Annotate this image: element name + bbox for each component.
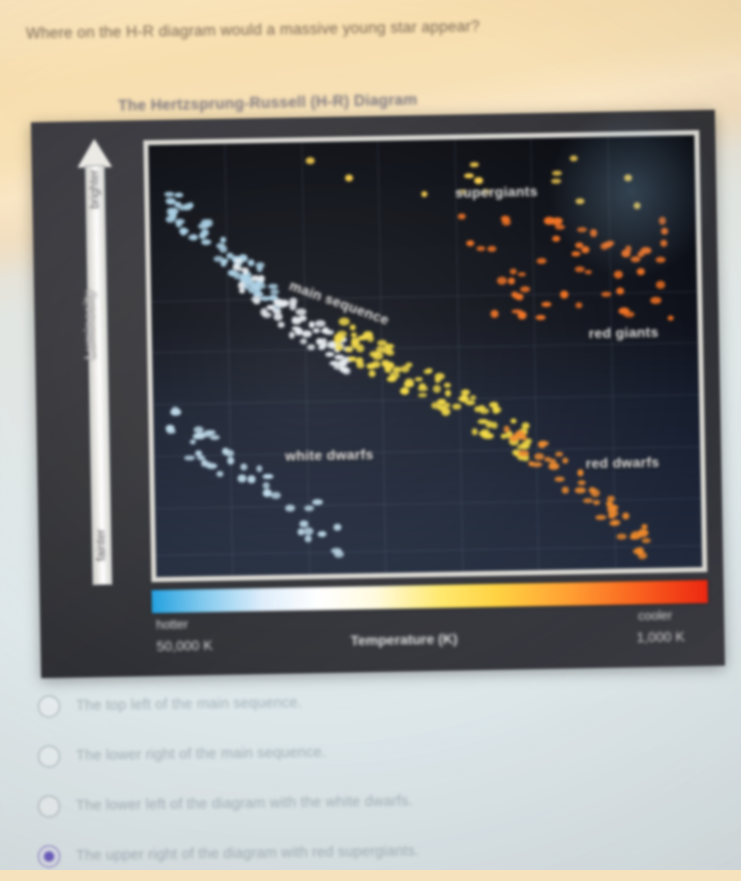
star-point [596, 515, 607, 521]
x-axis-left-value: 50,000 K [156, 637, 212, 654]
star-point [418, 393, 427, 398]
scatter-plot-area: supergiants main sequence red giants whi… [148, 135, 702, 577]
star-point [271, 492, 281, 500]
star-point [585, 270, 592, 275]
star-point [384, 343, 394, 349]
star-point [444, 403, 450, 408]
label-red-giants: red giants [589, 324, 659, 341]
star-point [351, 341, 359, 349]
star-point [520, 286, 530, 293]
star-point [188, 235, 198, 241]
star-point [508, 278, 515, 285]
star-point [668, 315, 674, 320]
star-point [256, 465, 262, 472]
star-point [216, 471, 223, 478]
gridline-vertical [531, 138, 540, 570]
answer-options-list: The top left of the main sequence. The l… [0, 678, 741, 870]
star-point [637, 251, 644, 257]
star-point [574, 267, 584, 273]
star-point [384, 366, 391, 373]
star-point [292, 318, 302, 324]
star-point [623, 311, 634, 318]
star-point [471, 428, 477, 435]
star-point [531, 462, 542, 467]
star-point [575, 488, 586, 494]
star-point [577, 227, 587, 232]
star-point [583, 498, 593, 503]
star-point [342, 367, 351, 375]
gridline-horizontal [155, 498, 701, 509]
quiz-page: Where on the H-R diagram would a massive… [0, 0, 741, 870]
star-point [636, 547, 644, 554]
star-point [417, 386, 428, 391]
star-point [251, 275, 260, 281]
answer-option-3-label: The lower left of the diagram with the w… [76, 793, 413, 814]
star-point [650, 297, 661, 304]
star-point [210, 435, 219, 440]
star-point [339, 317, 350, 325]
star-point [572, 251, 580, 257]
star-point [386, 350, 394, 356]
star-point [658, 217, 666, 225]
star-point [180, 227, 186, 235]
star-point [216, 242, 225, 249]
star-point [240, 464, 247, 471]
star-point [460, 395, 468, 403]
star-point [554, 476, 564, 481]
star-point [174, 201, 181, 207]
star-point [335, 354, 344, 359]
answer-option-2-label: The lower right of the main sequence. [76, 745, 326, 764]
question-text: Where on the H-R diagram would a massive… [26, 15, 716, 44]
star-point [312, 499, 323, 505]
gridline-vertical [225, 144, 234, 576]
star-point [518, 272, 526, 277]
star-point [185, 456, 195, 461]
star-point [239, 288, 245, 293]
star-point [491, 310, 499, 318]
star-point [401, 387, 409, 394]
star-point [295, 309, 306, 316]
star-point [304, 535, 312, 541]
star-point [201, 229, 208, 236]
answer-option-1-label: The top left of the main sequence. [76, 695, 302, 714]
x-axis-right-value: 1,000 K [636, 628, 685, 645]
star-point [306, 157, 315, 164]
star-point [457, 213, 466, 219]
star-point [517, 434, 526, 439]
radio-button-4[interactable] [38, 845, 60, 867]
star-point [510, 419, 516, 424]
hr-diagram-figure: brighter fainter Luminosity [31, 110, 725, 678]
star-point [317, 531, 327, 538]
star-point [262, 482, 269, 489]
star-point [304, 505, 314, 511]
star-points-layer [148, 135, 694, 145]
star-point [642, 538, 651, 543]
star-point [661, 228, 669, 235]
star-point [552, 217, 562, 225]
star-point [303, 527, 313, 535]
star-point [367, 363, 376, 370]
star-point [542, 302, 552, 307]
star-point [248, 286, 256, 292]
star-point [166, 424, 174, 431]
star-point [538, 441, 546, 449]
gridline-horizontal [152, 342, 698, 353]
star-point [315, 320, 326, 327]
star-point [590, 229, 597, 237]
star-point [606, 241, 614, 246]
star-point [461, 389, 470, 395]
radio-button-2[interactable] [38, 745, 60, 767]
y-axis-title: Luminosity [80, 265, 97, 385]
star-point [278, 322, 285, 328]
star-point [237, 474, 246, 482]
radio-button-1[interactable] [38, 695, 60, 717]
star-point [582, 246, 590, 252]
star-point [488, 246, 497, 252]
star-point [247, 259, 255, 267]
star-point [368, 370, 376, 378]
star-point [548, 463, 559, 471]
star-point [452, 404, 460, 410]
star-point [560, 291, 569, 299]
star-point [616, 287, 625, 295]
star-point [268, 284, 278, 289]
label-white-dwarfs: white dwarfs [285, 446, 374, 464]
star-point [608, 510, 618, 517]
star-point [256, 283, 266, 289]
star-point [617, 534, 627, 539]
label-supergiants: supergiants [455, 183, 538, 201]
answer-option-3[interactable]: The lower left of the diagram with the w… [0, 773, 741, 831]
star-point [273, 308, 282, 314]
star-point [575, 198, 585, 204]
gridline-vertical [454, 140, 463, 572]
star-point [555, 225, 565, 230]
star-point [166, 216, 175, 223]
star-point [661, 240, 668, 247]
star-point [290, 298, 298, 306]
star-point [300, 520, 309, 528]
star-point [189, 439, 195, 444]
star-point [174, 192, 184, 198]
star-point [445, 390, 451, 397]
star-point [169, 208, 179, 215]
star-point [562, 487, 569, 493]
star-point [500, 434, 507, 439]
star-point [393, 366, 402, 373]
answer-option-4-label: The upper right of the diagram with red … [76, 843, 419, 864]
star-point [227, 457, 234, 465]
star-point [206, 219, 213, 227]
star-point [213, 255, 223, 262]
star-point [497, 277, 507, 285]
x-axis-title: Temperature (K) [350, 631, 457, 649]
star-point [322, 327, 328, 334]
star-point [575, 302, 582, 308]
star-point [388, 376, 398, 382]
star-point [466, 240, 474, 247]
star-point [164, 192, 174, 197]
star-point [273, 313, 283, 321]
star-point [175, 218, 185, 224]
star-point [415, 377, 423, 382]
star-point [355, 357, 363, 365]
star-point [577, 469, 583, 475]
star-point [614, 271, 623, 279]
star-point [634, 202, 641, 209]
star-point [423, 369, 431, 375]
star-point [248, 476, 255, 483]
answer-option-2[interactable]: The lower right of the main sequence. [0, 723, 741, 781]
star-point [478, 431, 488, 436]
gridline-horizontal [151, 291, 697, 302]
star-point [201, 239, 211, 245]
star-point [577, 480, 585, 485]
star-point [655, 257, 665, 263]
star-point [534, 453, 544, 460]
star-point [552, 236, 560, 242]
star-point [593, 500, 600, 505]
x-axis-right-word: cooler [638, 609, 672, 624]
star-point [326, 352, 335, 357]
star-point [331, 547, 342, 553]
star-point [552, 170, 562, 176]
star-point [401, 365, 410, 373]
y-axis-bottom-label: fainter [95, 512, 108, 578]
x-axis-left-word: hotter [156, 618, 188, 633]
star-point [263, 474, 273, 479]
star-point [536, 315, 546, 321]
star-point [350, 325, 356, 331]
star-point [313, 328, 320, 334]
star-point [625, 246, 631, 253]
answer-option-4[interactable]: The upper right of the diagram with red … [0, 823, 741, 881]
star-point [570, 155, 578, 161]
star-point [629, 535, 638, 540]
plot-frame: supergiants main sequence red giants whi… [143, 130, 707, 582]
star-point [655, 281, 665, 288]
star-point [470, 395, 476, 401]
star-point [297, 528, 304, 536]
star-point [203, 430, 211, 438]
star-point [555, 451, 563, 457]
star-point [444, 383, 451, 389]
star-point [333, 524, 341, 532]
star-point [624, 174, 632, 181]
gridline-horizontal [156, 545, 702, 556]
label-red-dwarfs: red dwarfs [585, 453, 659, 470]
star-point [478, 405, 486, 411]
star-point [260, 296, 270, 302]
star-point [536, 257, 546, 263]
star-point [492, 422, 498, 430]
star-point [367, 335, 374, 342]
star-point [271, 289, 280, 295]
star-point [470, 162, 478, 167]
star-point [562, 457, 568, 463]
star-point [234, 258, 242, 263]
star-point [493, 406, 501, 413]
star-point [300, 338, 307, 344]
star-point [642, 524, 648, 530]
star-point [255, 262, 265, 268]
star-point [421, 191, 428, 197]
star-point [623, 512, 630, 519]
star-point [302, 331, 312, 338]
star-point [345, 175, 353, 182]
star-point [510, 269, 517, 275]
star-point [372, 352, 383, 360]
star-point [637, 268, 644, 275]
y-axis-top-label: brighter [89, 156, 102, 222]
star-point [433, 385, 441, 393]
star-point [464, 174, 474, 179]
answer-option-1[interactable]: The top left of the main sequence. [0, 673, 741, 731]
star-point [262, 312, 271, 318]
star-point [502, 218, 511, 225]
star-point [518, 451, 529, 456]
star-point [251, 296, 261, 302]
radio-button-3[interactable] [38, 795, 60, 817]
star-point [442, 408, 451, 416]
star-point [434, 377, 440, 384]
star-point [591, 489, 600, 497]
star-point [285, 504, 295, 512]
star-point [276, 301, 286, 309]
star-point [404, 381, 414, 387]
temperature-colorbar [152, 580, 708, 613]
star-point [476, 246, 485, 251]
star-point [551, 179, 561, 184]
